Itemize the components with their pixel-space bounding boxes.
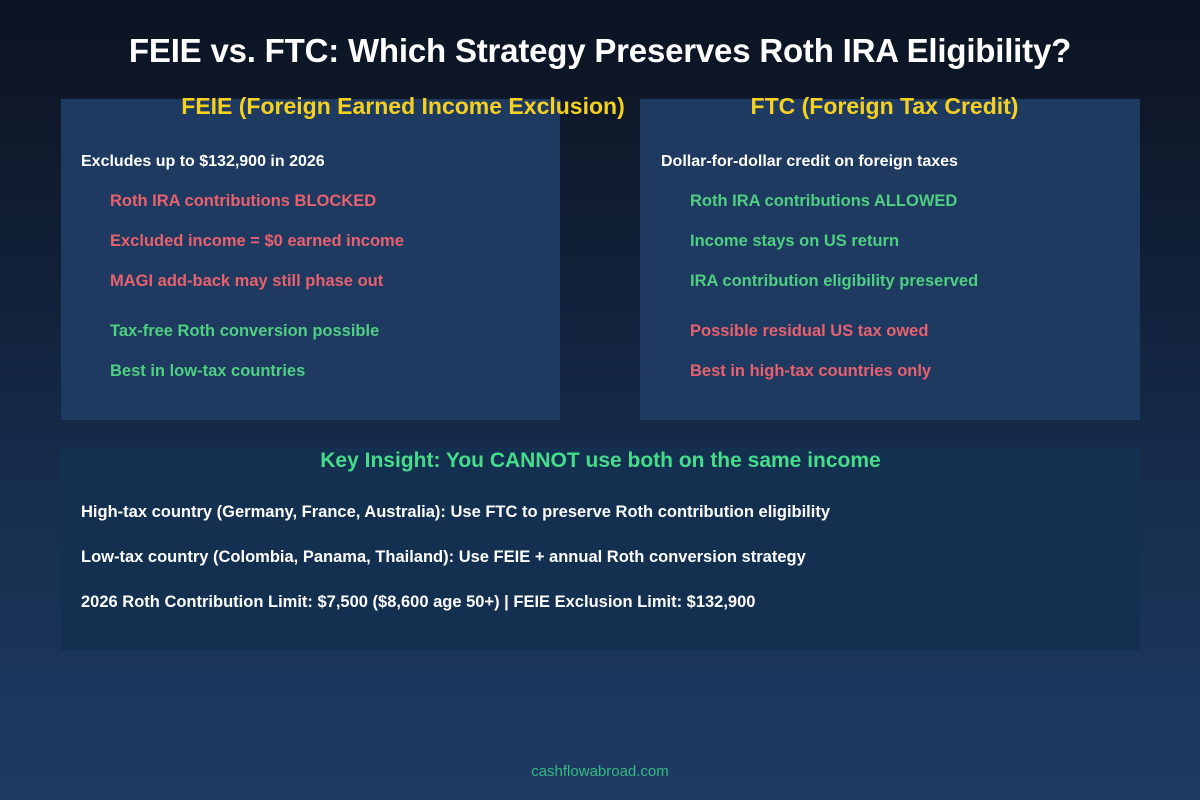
list-item: Roth IRA contributions ALLOWED xyxy=(690,192,978,232)
page-title: FEIE vs. FTC: Which Strategy Preserves R… xyxy=(0,32,1200,70)
list-item: Income stays on US return xyxy=(690,232,978,272)
list-item: IRA contribution eligibility preserved xyxy=(690,272,978,312)
infographic-slide: FEIE vs. FTC: Which Strategy Preserves R… xyxy=(0,0,1200,800)
footer-source-label: cashflowabroad.com xyxy=(0,763,1200,780)
list-item: Best in low-tax countries xyxy=(110,362,404,402)
key-insight-line: High-tax country (Germany, France, Austr… xyxy=(81,503,830,522)
list-item: Best in high-tax countries only xyxy=(690,362,978,402)
list-item: Possible residual US tax owed xyxy=(690,322,978,362)
list-item: Excluded income = $0 earned income xyxy=(110,232,404,272)
list-item: Tax-free Roth conversion possible xyxy=(110,322,404,362)
key-insight-line: Low-tax country (Colombia, Panama, Thail… xyxy=(81,548,806,567)
panel-ftc-bullet-list: Roth IRA contributions ALLOWED Income st… xyxy=(690,192,978,402)
panel-feie-bullet-list: Roth IRA contributions BLOCKED Excluded … xyxy=(110,192,404,402)
list-item: MAGI add-back may still phase out xyxy=(110,272,404,312)
key-insight-heading: Key Insight: You CANNOT use both on the … xyxy=(61,449,1140,473)
panel-ftc-heading: FTC (Foreign Tax Credit) xyxy=(640,93,1129,120)
key-insight-line: 2026 Roth Contribution Limit: $7,500 ($8… xyxy=(81,593,755,612)
panel-feie-subtitle: Excludes up to $132,900 in 2026 xyxy=(81,153,325,171)
list-item: Roth IRA contributions BLOCKED xyxy=(110,192,404,232)
panel-ftc-subtitle: Dollar-for-dollar credit on foreign taxe… xyxy=(661,153,958,171)
